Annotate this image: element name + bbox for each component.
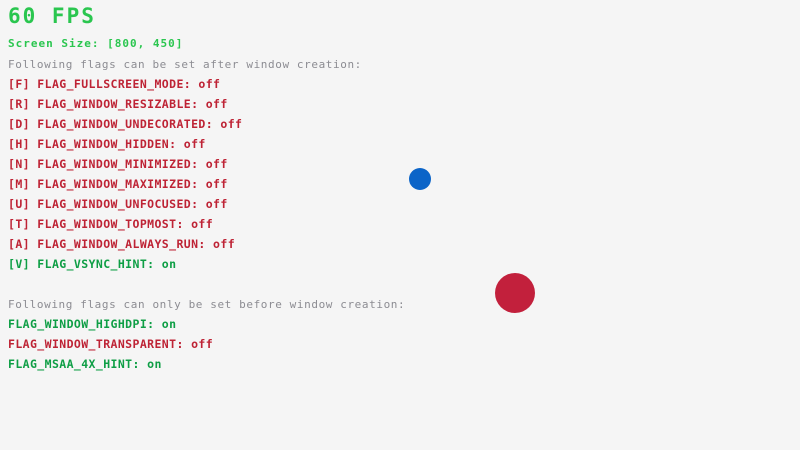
flag-line-flag_window_undecorated[interactable]: [D] FLAG_WINDOW_UNDECORATED: off [8, 119, 242, 131]
flag-line-flag_window_highdpi[interactable]: FLAG_WINDOW_HIGHDPI: on [8, 319, 176, 331]
flag-line-flag_fullscreen_mode[interactable]: [F] FLAG_FULLSCREEN_MODE: off [8, 79, 220, 91]
red-circle-shape [495, 273, 535, 313]
flag-line-flag_msaa_4x_hint[interactable]: FLAG_MSAA_4X_HINT: on [8, 359, 162, 371]
blue-circle-shape [409, 168, 431, 190]
screen-size-label: Screen Size: [800, 450] [8, 38, 183, 49]
flag-line-flag_window_minimized[interactable]: [N] FLAG_WINDOW_MINIMIZED: off [8, 159, 228, 171]
flag-line-flag_vsync_hint[interactable]: [V] FLAG_VSYNC_HINT: on [8, 259, 176, 271]
flag-line-flag_window_maximized[interactable]: [M] FLAG_WINDOW_MAXIMIZED: off [8, 179, 228, 191]
section-header-after-creation: Following flags can be set after window … [8, 59, 362, 70]
flag-line-flag_window_topmost[interactable]: [T] FLAG_WINDOW_TOPMOST: off [8, 219, 213, 231]
fps-counter: 60 FPS [8, 6, 96, 27]
flag-line-flag_window_hidden[interactable]: [H] FLAG_WINDOW_HIDDEN: off [8, 139, 206, 151]
flag-line-flag_window_unfocused[interactable]: [U] FLAG_WINDOW_UNFOCUSED: off [8, 199, 228, 211]
flag-line-flag_window_always_run[interactable]: [A] FLAG_WINDOW_ALWAYS_RUN: off [8, 239, 235, 251]
section-header-before-creation: Following flags can only be set before w… [8, 299, 405, 310]
raylib-window-canvas: 60 FPS Screen Size: [800, 450] Following… [0, 0, 800, 450]
flag-line-flag_window_transparent[interactable]: FLAG_WINDOW_TRANSPARENT: off [8, 339, 213, 351]
flag-line-flag_window_resizable[interactable]: [R] FLAG_WINDOW_RESIZABLE: off [8, 99, 228, 111]
